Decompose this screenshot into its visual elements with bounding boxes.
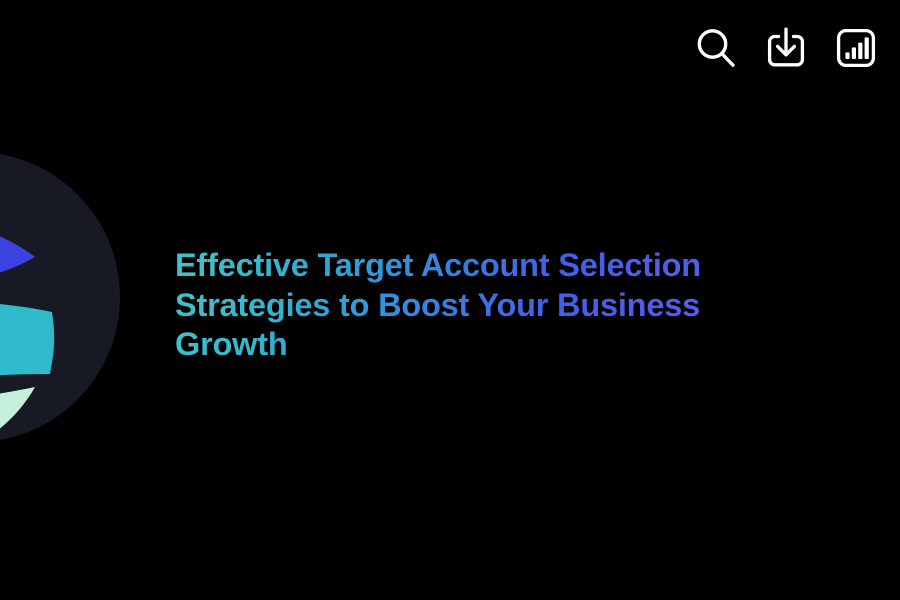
logo-band-mint <box>0 387 35 442</box>
analytics-button[interactable] <box>830 22 882 74</box>
search-button[interactable] <box>690 22 742 74</box>
globe-logo-mark <box>0 152 120 442</box>
logo-band-teal <box>0 300 54 400</box>
logo-band-blue <box>0 208 35 289</box>
download-icon <box>763 25 809 71</box>
hero-section: Effective Target Account Selection Strat… <box>175 246 775 365</box>
page-title: Effective Target Account Selection Strat… <box>175 246 775 365</box>
download-button[interactable] <box>760 22 812 74</box>
chart-icon <box>833 25 879 71</box>
search-icon <box>693 25 739 71</box>
toolbar <box>690 22 882 74</box>
